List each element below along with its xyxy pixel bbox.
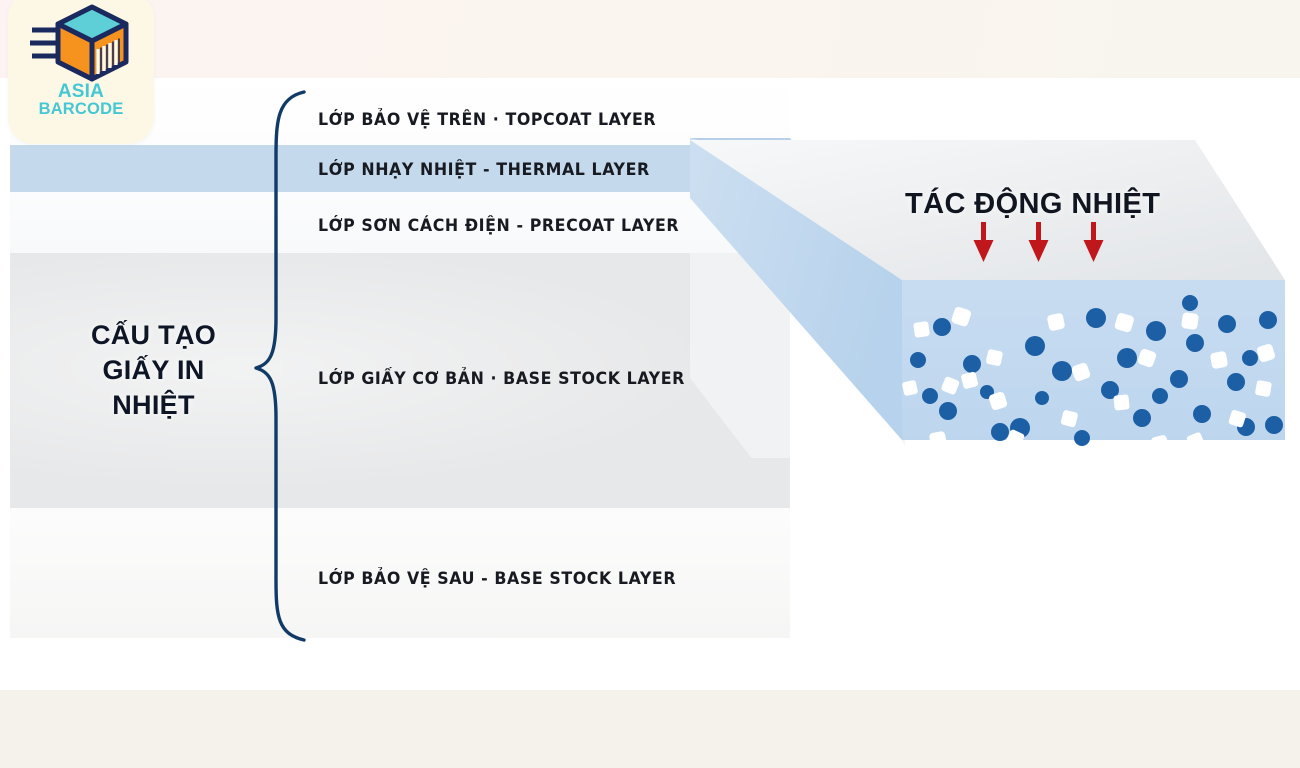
heat-arrow-1 — [974, 222, 994, 262]
heat-arrow-2 — [1029, 222, 1049, 262]
logo-line-2: BARCODE — [8, 101, 154, 118]
bottom-background-band — [0, 690, 1300, 768]
top-background-band — [0, 0, 1300, 78]
logo-wordmark: ASIA BARCODE — [8, 82, 154, 118]
page-title-line-3: NHIỆT — [112, 390, 195, 420]
heat-arrows — [960, 222, 1120, 272]
layer-label-base: LỚP GIẤY CƠ BẢN · BASE STOCK LAYER — [318, 369, 685, 388]
page-title-line-1: CẤU TẠO — [91, 320, 216, 350]
heat-arrow-3 — [1084, 222, 1104, 262]
page-title: CẤU TẠO GIẤY IN NHIỆT — [36, 318, 271, 423]
layer-label-topcoat: LỚP BẢO VỆ TRÊN · TOPCOAT LAYER — [318, 110, 656, 129]
layer-label-precoat: LỚP SƠN CÁCH ĐIỆN - PRECOAT LAYER — [318, 216, 679, 235]
page-title-line-2: GIẤY IN — [102, 355, 204, 385]
heat-impact-title: TÁC ĐỘNG NHIỆT — [905, 188, 1160, 221]
logo-line-1: ASIA — [8, 82, 154, 101]
barcode-box-icon — [30, 2, 134, 84]
slab-front-face — [902, 280, 1285, 440]
diagram-canvas: LỚP BẢO VỆ TRÊN · TOPCOAT LAYER LỚP NHẠY… — [0, 0, 1300, 768]
thermal-paper-slab — [690, 128, 1300, 458]
layer-label-backcoat: LỚP BẢO VỆ SAU - BASE STOCK LAYER — [318, 569, 676, 588]
layer-label-thermal: LỚP NHẠY NHIỆT - THERMAL LAYER — [318, 160, 650, 179]
logo-badge[interactable]: ASIA BARCODE — [8, 0, 154, 144]
